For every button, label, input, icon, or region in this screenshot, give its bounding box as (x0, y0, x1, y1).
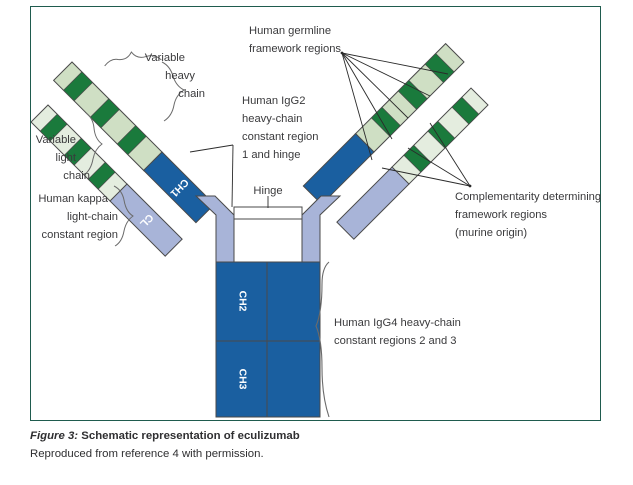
svg-text:constant regions 2 and 3: constant regions 2 and 3 (334, 335, 457, 347)
human-germline-label: Human germline framework regions (249, 25, 341, 55)
svg-text:(murine origin): (murine origin) (455, 227, 527, 239)
svg-text:Variable: Variable (36, 134, 76, 146)
svg-text:chain: chain (178, 88, 205, 100)
svg-text:Complementarity determining: Complementarity determining (455, 191, 601, 203)
figure-caption-title: Figure 3: Schematic representation of ec… (30, 430, 300, 442)
svg-text:constant region: constant region (242, 131, 319, 143)
ch3-label: CH3 (237, 369, 248, 390)
figure-caption-source: Reproduced from reference 4 with permiss… (30, 448, 264, 460)
figure-number: Figure 3: (30, 430, 78, 442)
right-ch2-region (267, 262, 320, 341)
svg-text:light-chain: light-chain (67, 211, 118, 223)
svg-text:light: light (55, 152, 76, 164)
svg-text:constant region: constant region (42, 229, 119, 241)
right-hinge-elbow (302, 196, 340, 262)
figure-container: CH1 CL (0, 0, 633, 485)
antibody-schematic: CH1 CL (0, 0, 633, 430)
human-kappa-label: Human kappa light-chain constant region (38, 193, 118, 241)
variable-heavy-chain-label: Variable heavy chain (145, 52, 205, 100)
hinge-label: Hinge (253, 185, 282, 197)
svg-text:heavy-chain: heavy-chain (242, 113, 302, 125)
svg-text:framework regions: framework regions (249, 43, 341, 55)
svg-text:Variable: Variable (145, 52, 185, 64)
figure-title-text: Schematic representation of eculizumab (78, 430, 300, 442)
right-ch3-region (267, 341, 320, 417)
svg-text:Human kappa: Human kappa (38, 193, 108, 205)
human-igg2-label: Human IgG2 heavy-chain constant region 1… (242, 95, 319, 161)
svg-text:framework regions: framework regions (455, 209, 547, 221)
cdr-leader-vertex (469, 185, 472, 188)
svg-text:Human IgG4 heavy-chain: Human IgG4 heavy-chain (334, 317, 461, 329)
svg-text:1 and hinge: 1 and hinge (242, 149, 300, 161)
svg-text:heavy: heavy (165, 70, 195, 82)
ch2-label: CH2 (237, 291, 248, 312)
svg-text:Human germline: Human germline (249, 25, 331, 37)
svg-text:Human IgG2: Human IgG2 (242, 95, 305, 107)
hinge-connector (234, 207, 302, 219)
svg-text:chain: chain (63, 170, 90, 182)
cdr-label: Complementarity determining framework re… (455, 191, 601, 239)
human-igg4-label: Human IgG4 heavy-chain constant regions … (334, 317, 461, 347)
right-ch1-region (303, 134, 374, 205)
